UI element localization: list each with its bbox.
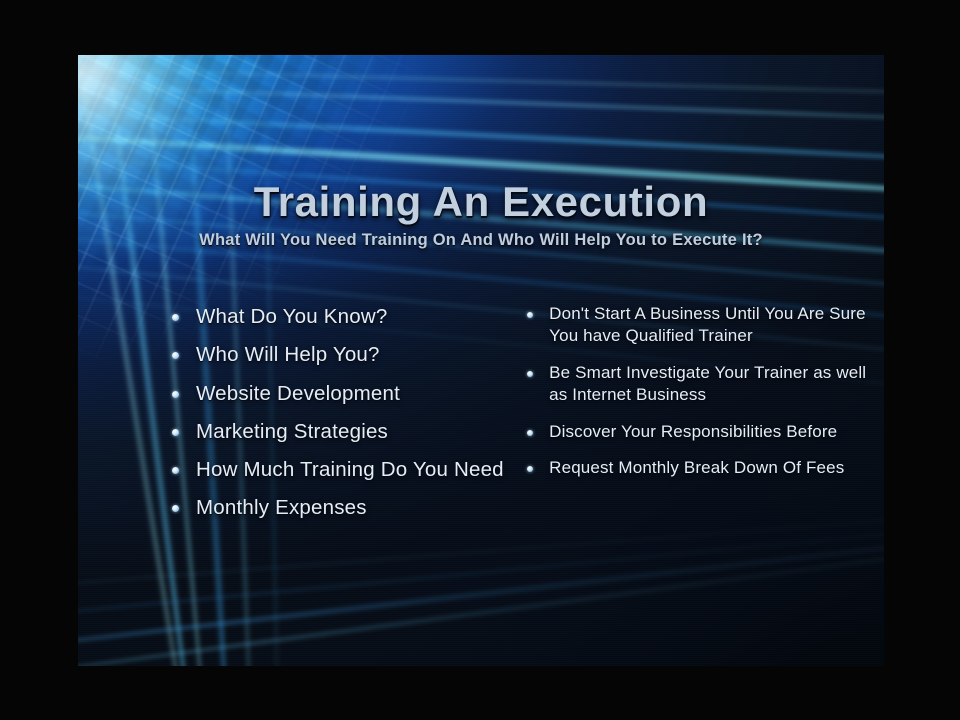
bullet-dot-icon bbox=[172, 391, 179, 398]
bullet-dot-icon bbox=[172, 429, 179, 436]
list-item: Marketing Strategies bbox=[166, 418, 505, 446]
title-block: Training An Execution What Will You Need… bbox=[78, 180, 884, 251]
list-item: Request Monthly Break Down Of Fees bbox=[521, 457, 884, 479]
list-item: What Do You Know? bbox=[166, 303, 505, 331]
list-item-label: How Much Training Do You Need bbox=[196, 458, 504, 481]
bullet-dot-icon bbox=[527, 371, 533, 377]
bullet-dot-icon bbox=[527, 466, 533, 472]
bullet-columns: What Do You Know? Who Will Help You? Web… bbox=[78, 303, 884, 533]
list-item-label: What Do You Know? bbox=[196, 305, 387, 328]
slide-title: Training An Execution bbox=[78, 180, 884, 224]
bullet-list-left: What Do You Know? Who Will Help You? Web… bbox=[78, 303, 505, 533]
list-item-label: Monthly Expenses bbox=[196, 496, 367, 519]
list-item: Don't Start A Business Until You Are Sur… bbox=[521, 303, 884, 348]
list-item-label: Don't Start A Business Until You Are Sur… bbox=[549, 304, 866, 345]
bullet-dot-icon bbox=[172, 352, 179, 359]
list-item-label: Discover Your Responsibilities Before bbox=[549, 422, 837, 441]
slide-content: Training An Execution What Will You Need… bbox=[78, 55, 884, 666]
list-item: Monthly Expenses bbox=[166, 494, 505, 522]
list-item-label: Who Will Help You? bbox=[196, 343, 380, 366]
bullet-dot-icon bbox=[172, 314, 179, 321]
bullet-dot-icon bbox=[172, 505, 179, 512]
list-item-label: Be Smart Investigate Your Trainer as wel… bbox=[549, 363, 866, 404]
bullet-dot-icon bbox=[527, 430, 533, 436]
presentation-slide: Training An Execution What Will You Need… bbox=[78, 55, 884, 666]
list-item: Who Will Help You? bbox=[166, 341, 505, 369]
video-player-frame: Training An Execution What Will You Need… bbox=[0, 0, 960, 720]
bullet-dot-icon bbox=[172, 467, 179, 474]
list-item: Be Smart Investigate Your Trainer as wel… bbox=[521, 362, 884, 407]
list-item-label: Website Development bbox=[196, 382, 400, 405]
bullet-list-right: Don't Start A Business Until You Are Sur… bbox=[505, 303, 884, 494]
bullet-dot-icon bbox=[527, 312, 533, 318]
list-item: How Much Training Do You Need bbox=[166, 456, 505, 484]
list-item-label: Request Monthly Break Down Of Fees bbox=[549, 458, 844, 477]
slide-subtitle: What Will You Need Training On And Who W… bbox=[171, 230, 791, 251]
list-item: Discover Your Responsibilities Before bbox=[521, 421, 884, 443]
list-item-label: Marketing Strategies bbox=[196, 420, 388, 443]
list-item: Website Development bbox=[166, 380, 505, 408]
